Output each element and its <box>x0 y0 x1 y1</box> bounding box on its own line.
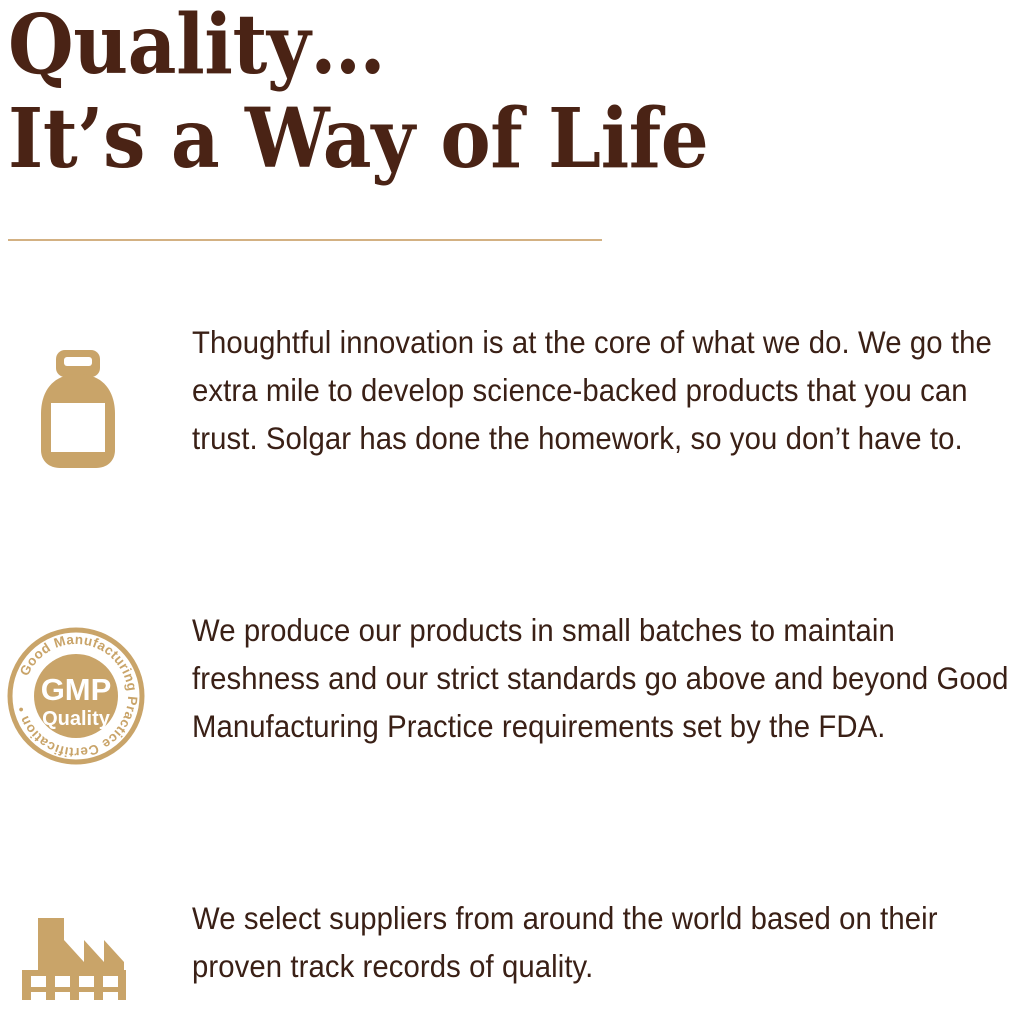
feature-text-cell: We produce our products in small batches… <box>192 606 1024 750</box>
page-heading: Quality… It’s a Way of Life <box>8 0 1008 186</box>
factory-icon <box>22 918 126 1000</box>
feature-description: Thoughtful innovation is at the core of … <box>192 318 1018 462</box>
gmp-quality-seal-icon: Good Manufacturing Practice Certificatio… <box>6 626 146 766</box>
feature-description: We select suppliers from around the worl… <box>192 894 1018 990</box>
feature-item: Good Manufacturing Practice Certificatio… <box>0 606 1024 894</box>
feature-icon-cell <box>0 318 192 468</box>
feature-icon-cell <box>0 894 192 1000</box>
page-title-line-1: Quality… <box>8 0 928 92</box>
feature-icon-cell: Good Manufacturing Practice Certificatio… <box>0 606 192 766</box>
feature-description: We produce our products in small batches… <box>192 606 1018 750</box>
heading-divider <box>8 239 602 241</box>
feature-item: Thoughtful innovation is at the core of … <box>0 318 1024 606</box>
page-title-line-2: It’s a Way of Life <box>8 92 928 186</box>
feature-text-cell: Thoughtful innovation is at the core of … <box>192 318 1024 462</box>
feature-text-cell: We select suppliers from around the worl… <box>192 894 1024 990</box>
supplement-bottle-icon <box>37 350 119 468</box>
feature-item: We select suppliers from around the worl… <box>0 894 1024 1014</box>
feature-list: Thoughtful innovation is at the core of … <box>0 318 1024 1014</box>
svg-text:GMP: GMP <box>41 672 112 707</box>
svg-text:Quality: Quality <box>42 708 111 730</box>
